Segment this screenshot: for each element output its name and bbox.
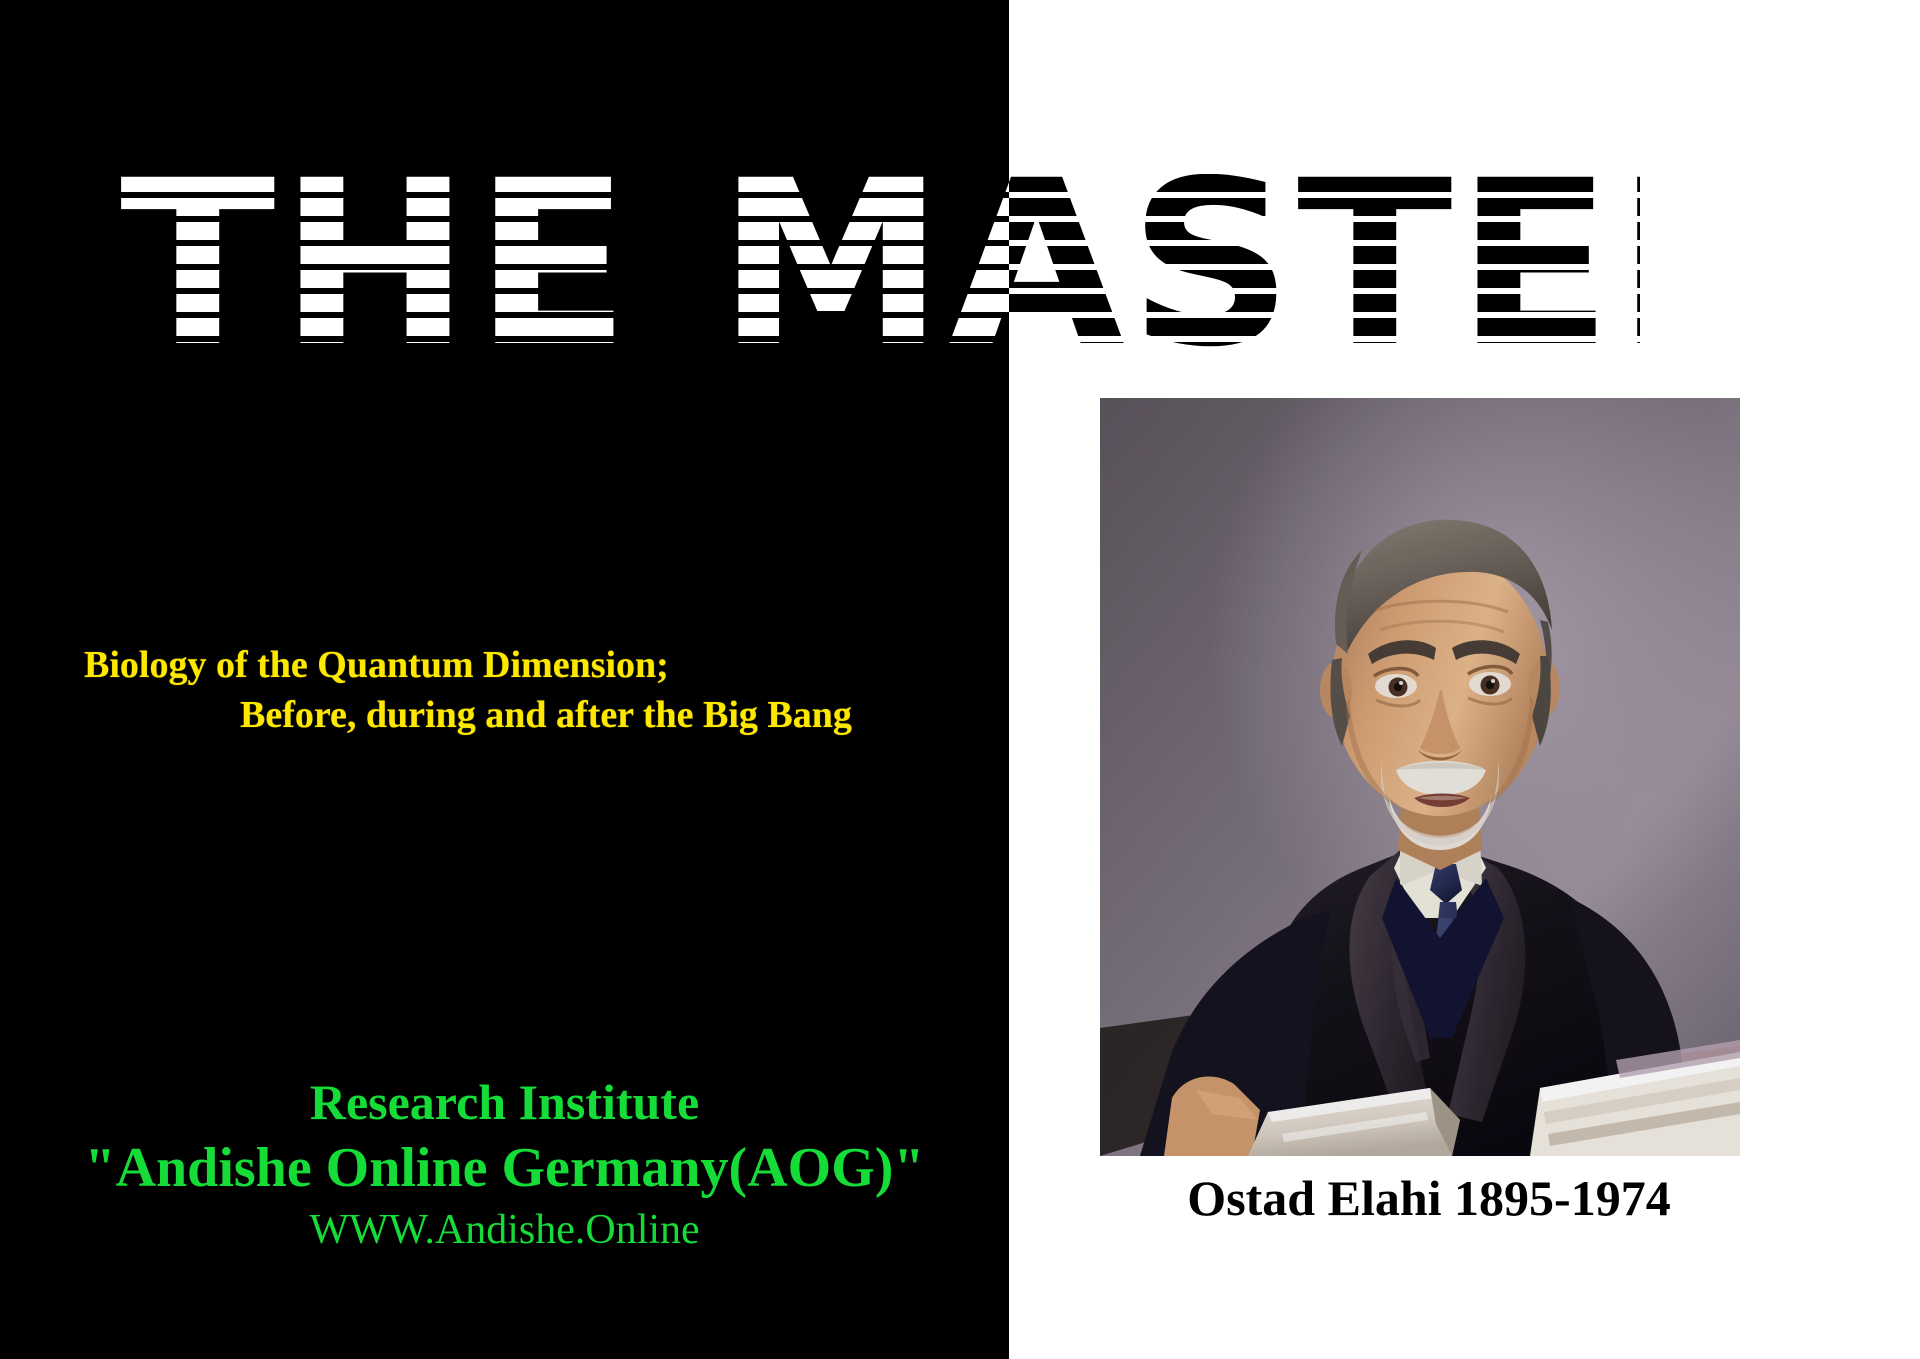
institute-name-line-1: Research Institute — [0, 1070, 1009, 1134]
page-title: THE MASTER THE MASTER — [120, 150, 1640, 378]
portrait-illustration — [1100, 398, 1740, 1156]
institute-block: Research Institute "Andishe Online Germa… — [0, 1070, 1009, 1258]
photo-caption: Ostad Elahi 1895-1974 — [1009, 1168, 1849, 1228]
institute-name-line-2: "Andishe Online Germany(AOG)" — [0, 1134, 1009, 1202]
portrait-photo — [1100, 398, 1740, 1156]
subtitle-line-2: Before, during and after the Big Bang — [84, 690, 984, 740]
presentation-slide: THE MASTER THE MASTER Biology of the Qua… — [0, 0, 1920, 1359]
subtitle-block: Biology of the Quantum Dimension; Before… — [84, 640, 984, 740]
subtitle-line-1: Biology of the Quantum Dimension; — [84, 640, 984, 690]
institute-website[interactable]: WWW.Andishe.Online — [0, 1202, 1009, 1258]
